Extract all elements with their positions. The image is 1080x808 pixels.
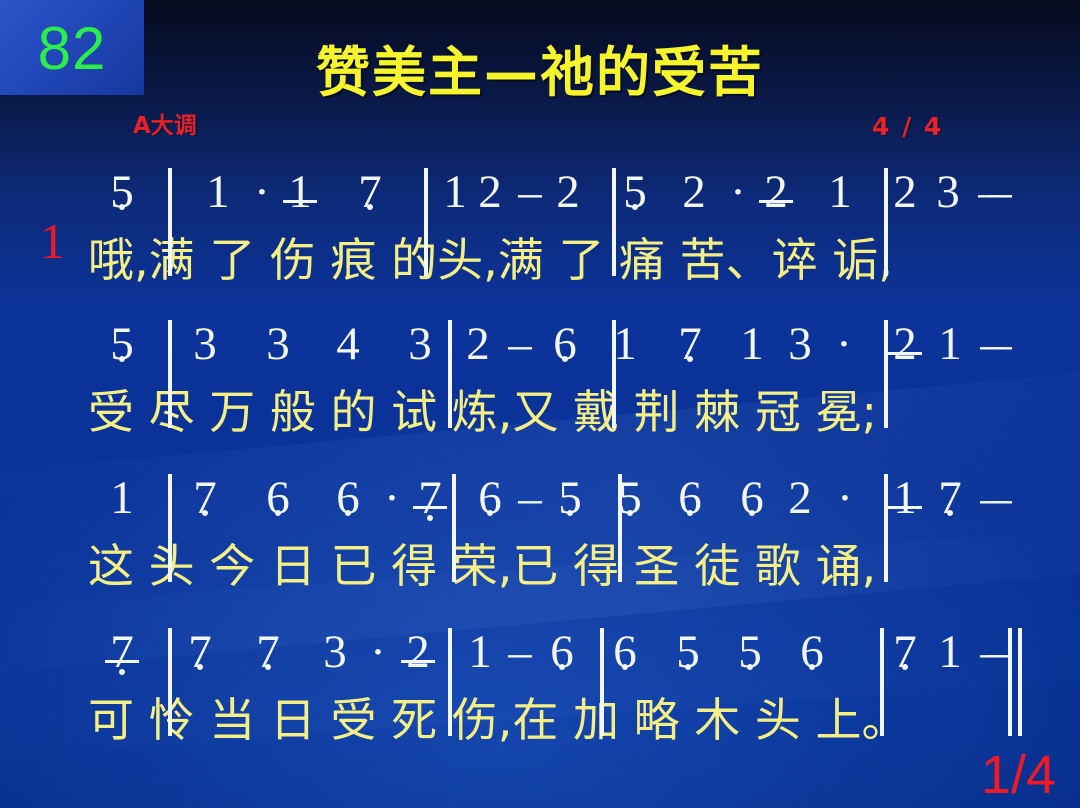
note-7: 7 — [666, 312, 714, 376]
note-3: 3 — [254, 312, 302, 376]
bar-line — [168, 168, 172, 276]
lyric-row: 可 怜 当 日 受 死 伤,在 加 略 木 头 上。 — [0, 684, 1080, 756]
bar-line — [448, 628, 452, 736]
note-5: 5 — [98, 312, 146, 376]
note-·: · — [820, 312, 868, 376]
note-1: 1 — [276, 160, 324, 224]
low-octave-dot — [749, 510, 755, 516]
low-octave-dot — [119, 204, 125, 210]
note-5: 5 — [664, 620, 712, 684]
note-1: 1 — [926, 620, 974, 684]
note-1: 1 — [728, 312, 776, 376]
note-7: 7 — [176, 620, 224, 684]
bar-line — [168, 320, 172, 428]
note-7: 7 — [926, 466, 974, 530]
lyric-text: 可 怜 当 日 受 死 伤,在 加 略 木 头 上。 — [88, 684, 907, 756]
note-6: 6 — [324, 466, 372, 530]
note-6: 6 — [254, 466, 302, 530]
staff-system: 1766·76–55662·17––这 头 今 日 已 得 荣,已 得 圣 徒 … — [0, 466, 1080, 602]
note-6: 6 — [541, 312, 589, 376]
low-octave-dot — [487, 510, 493, 516]
staff-system: 7773·21–6655671––可 怜 当 日 受 死 伤,在 加 略 木 头… — [0, 620, 1080, 756]
note-5: 5 — [726, 620, 774, 684]
low-octave-dot — [809, 664, 815, 670]
note-7: 7 — [881, 620, 929, 684]
note-1: 1 — [926, 312, 974, 376]
low-octave-dot — [197, 664, 203, 670]
note-1: 1 — [816, 160, 864, 224]
bar-line — [618, 474, 622, 582]
note-–: – — [976, 160, 1024, 224]
note-2: 2 — [752, 160, 800, 224]
note-row: 1766·76–55662·17–– — [0, 466, 1080, 530]
staff-system: 533432–61713·21––受 尽 万 般 的 试 炼,又 戴 荆 棘 冠… — [0, 312, 1080, 448]
low-octave-dot — [622, 664, 628, 670]
low-octave-dot — [747, 664, 753, 670]
eighth-beam — [413, 506, 447, 509]
low-octave-dot — [687, 356, 693, 362]
note-6: 6 — [728, 466, 776, 530]
bar-line — [884, 320, 888, 428]
eighth-beam — [283, 200, 317, 203]
note-–: – — [976, 312, 1024, 376]
note-5: 5 — [546, 466, 594, 530]
lyric-row: 这 头 今 日 已 得 荣,已 得 圣 徒 歌 诵, — [0, 530, 1080, 602]
note-2: 2 — [670, 160, 718, 224]
note-5: 5 — [98, 160, 146, 224]
low-octave-dot — [265, 664, 271, 670]
lyric-row: 哦,满 了 伤 痕 的头,满 了 痛 苦、谇 诟, — [0, 224, 1080, 296]
bar-line — [448, 320, 452, 428]
lyric-text: 哦,满 了 伤 痕 的头,满 了 痛 苦、谇 诟, — [88, 224, 893, 296]
low-octave-dot — [559, 664, 565, 670]
note-2: 2 — [544, 160, 592, 224]
note-6: 6 — [538, 620, 586, 684]
low-octave-dot — [567, 510, 573, 516]
final-double-bar — [1008, 628, 1028, 736]
low-octave-dot — [947, 510, 953, 516]
note-·: · — [821, 466, 869, 530]
bar-line — [168, 474, 172, 582]
note-–: – — [496, 312, 544, 376]
lyric-text: 这 头 今 日 已 得 荣,已 得 圣 徒 歌 诵, — [88, 530, 876, 602]
note-6: 6 — [666, 466, 714, 530]
note-3: 3 — [776, 312, 824, 376]
note-3: 3 — [311, 620, 359, 684]
lyric-row: 受 尽 万 般 的 试 炼,又 戴 荆 棘 冠 冕; — [0, 376, 1080, 448]
note-row: 51·1712–252·2123–– — [0, 160, 1080, 224]
note-5: 5 — [611, 160, 659, 224]
note-1: 1 — [98, 466, 146, 530]
low-octave-dot — [427, 515, 433, 521]
eighth-beam — [888, 352, 922, 355]
low-octave-dot — [367, 204, 373, 210]
note-row: 7773·21–6655671–– — [0, 620, 1080, 684]
note-2: 2 — [881, 160, 929, 224]
low-octave-dot — [687, 510, 693, 516]
low-octave-dot — [685, 664, 691, 670]
note-6: 6 — [788, 620, 836, 684]
note-7: 7 — [181, 466, 229, 530]
hymn-slide: 82 赞美主—祂的受苦 A大调 4 / 4 1 51·1712–252·2123… — [0, 0, 1080, 808]
note-3: 3 — [181, 312, 229, 376]
bar-line — [168, 628, 172, 736]
key-signature: A大调 — [133, 115, 197, 138]
note-1: 1 — [601, 312, 649, 376]
note-7: 7 — [346, 160, 394, 224]
low-octave-dot — [119, 669, 125, 675]
low-octave-dot — [275, 510, 281, 516]
note-2: 2 — [394, 620, 442, 684]
bar-line — [424, 168, 428, 276]
note-7: 7 — [98, 620, 146, 684]
page-indicator: 1/4 — [981, 748, 1056, 802]
bar-line — [452, 474, 456, 582]
note-2: 2 — [454, 312, 502, 376]
note-2: 2 — [776, 466, 824, 530]
note-–: – — [496, 620, 544, 684]
note-1: 1 — [881, 466, 929, 530]
note-5: 5 — [606, 466, 654, 530]
note-6: 6 — [601, 620, 649, 684]
bar-line — [884, 168, 888, 276]
bar-line — [600, 628, 604, 736]
bar-line — [612, 168, 616, 276]
low-octave-dot — [202, 510, 208, 516]
low-octave-dot — [627, 510, 633, 516]
note-3: 3 — [396, 312, 444, 376]
low-octave-dot — [902, 664, 908, 670]
page-title: 赞美主—祂的受苦 — [0, 46, 1080, 100]
note-7: 7 — [244, 620, 292, 684]
eighth-beam — [759, 200, 793, 203]
lyric-text: 受 尽 万 般 的 试 炼,又 戴 荆 棘 冠 冕; — [88, 376, 877, 448]
note-2: 2 — [881, 312, 929, 376]
low-octave-dot — [119, 356, 125, 362]
eighth-beam — [105, 660, 139, 663]
staff-system: 51·1712–252·2123––哦,满 了 伤 痕 的头,满 了 痛 苦、谇… — [0, 160, 1080, 296]
eighth-beam — [401, 660, 435, 663]
note-4: 4 — [324, 312, 372, 376]
bar-line — [884, 474, 888, 582]
bar-line — [880, 628, 884, 736]
low-octave-dot — [632, 204, 638, 210]
note-–: – — [976, 466, 1024, 530]
note-row: 533432–61713·21–– — [0, 312, 1080, 376]
note-3: 3 — [924, 160, 972, 224]
eighth-beam — [888, 506, 922, 509]
low-octave-dot — [345, 510, 351, 516]
low-octave-dot — [562, 356, 568, 362]
note-1: 1 — [194, 160, 242, 224]
note-7: 7 — [406, 466, 454, 530]
time-signature: 4 / 4 — [872, 114, 943, 139]
bar-line — [612, 320, 616, 428]
